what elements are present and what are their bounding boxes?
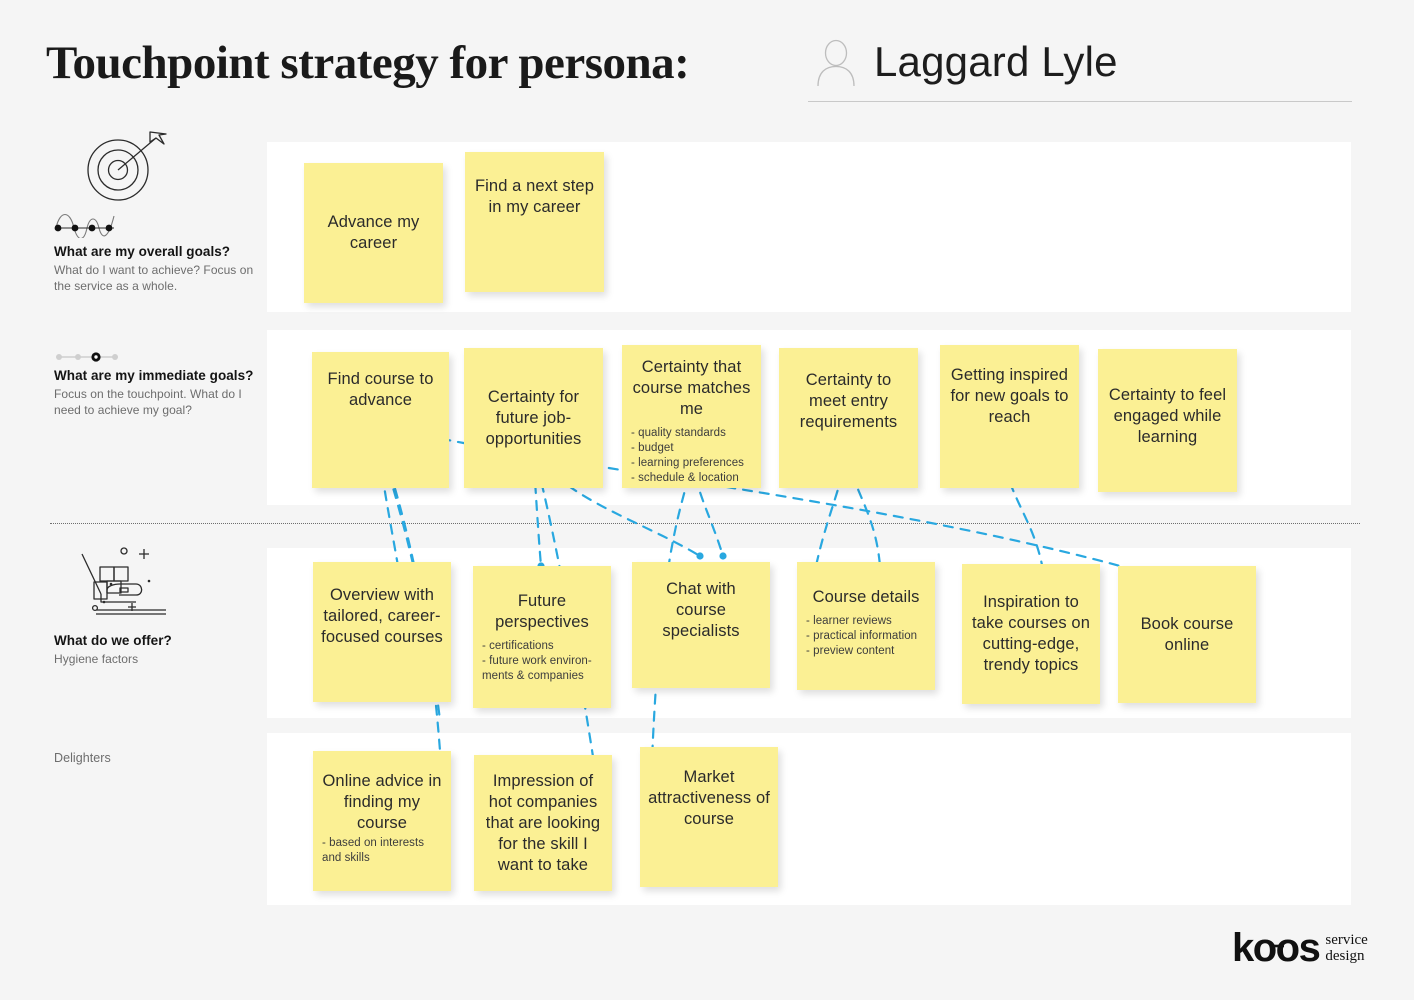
sticky-note[interactable]: Overview with tailored, career-focused c… [313,562,451,702]
page-header: Touchpoint strategy for persona: Laggard… [0,0,1414,120]
note-heading: Certainty to meet entry requirements [779,370,918,433]
sticky-note[interactable]: Certainty for future job-opportunities [464,348,603,488]
sidebar-title-overall-goals: What are my overall goals? [54,244,259,260]
note-heading: Future perspectives [473,591,611,633]
sticky-note[interactable]: Impression of hot companies that are loo… [474,755,612,891]
sticky-note[interactable]: Advance my career [304,163,443,303]
sticky-note[interactable]: Book course online [1118,566,1256,703]
note-heading: Certainty for future job-opportunities [464,387,603,450]
sidebar-subtitle-immediate-goals: Focus on the touchpoint. What do I need … [54,387,259,418]
note-heading: Getting inspired for new goals to reach [940,365,1079,428]
wave-dots-icon [54,212,122,238]
note-heading: Find a next step in my career [465,176,604,218]
sidebar-section-offer: What do we offer? Hygiene factors [54,633,259,668]
sticky-note[interactable]: Future perspectives - certifications - f… [473,566,611,708]
page-title: Touchpoint strategy for persona: [46,36,689,90]
note-heading: Inspiration to take courses on cutting-e… [962,592,1100,676]
sticky-note[interactable]: Inspiration to take courses on cutting-e… [962,564,1100,704]
target-dartboard-icon [80,126,174,208]
note-heading: Online advice in finding my course [313,771,451,834]
note-bullets: - based on interests and skills [313,836,451,866]
note-heading: Advance my career [304,212,443,254]
note-bullets: - certifications - future work environ- … [473,639,611,684]
hygiene-delighter-divider [50,523,1360,524]
note-heading: Find course to advance [312,369,449,411]
sidebar-section-overall-goals: What are my overall goals? What do I wan… [54,244,259,294]
note-heading: Certainty that course matches me [622,357,761,420]
sticky-note[interactable]: Getting inspired for new goals to reach [940,345,1079,488]
sticky-note[interactable]: Market attractiveness of course [640,747,778,887]
note-heading: Certainty to feel engaged while learning [1098,385,1237,448]
note-heading: Impression of hot companies that are loo… [474,771,612,876]
note-heading: Overview with tailored, career-focused c… [313,585,451,648]
persona-name: Laggard Lyle [874,38,1118,86]
note-bullets: - quality standards - budget - learning … [622,426,761,486]
sticky-note[interactable]: Certainty that course matches me - quali… [622,345,761,488]
note-heading: Market attractiveness of course [640,767,778,830]
sidebar-subtitle-offer: Hygiene factors [54,652,259,668]
koos-service-design-logo: koos service design [1232,928,1368,968]
sticky-note[interactable]: Course details - learner reviews - pract… [797,562,935,690]
note-heading: Course details [797,587,935,608]
header-divider-rule [808,101,1352,102]
sticky-note[interactable]: Chat with course specialists [632,562,770,688]
touchpoint-strategy-board: Touchpoint strategy for persona: Laggard… [0,0,1414,1000]
glasses-icon [1254,939,1304,959]
logo-tagline: service design [1325,928,1367,964]
sidebar-section-delighters: Delighters [54,751,259,765]
sidebar-subtitle-overall-goals: What do I want to achieve? Focus on the … [54,263,259,294]
hand-blocks-offer-icon [74,544,174,624]
sticky-note[interactable]: Online advice in finding my course - bas… [313,751,451,891]
progress-dots-icon [54,350,134,364]
note-heading: Book course online [1118,614,1256,656]
sticky-note[interactable]: Find course to advance [312,352,449,488]
sidebar-title-immediate-goals: What are my immediate goals? [54,368,259,384]
note-bullets: - learner reviews - practical informatio… [797,614,935,659]
sticky-note[interactable]: Certainty to feel engaged while learning [1098,349,1237,492]
sticky-note[interactable]: Certainty to meet entry requirements [779,348,918,488]
sidebar-section-immediate-goals: What are my immediate goals? Focus on th… [54,368,259,418]
sidebar-title-offer: What do we offer? [54,633,259,649]
note-heading: Chat with course specialists [632,579,770,642]
sidebar-title-delighters: Delighters [54,751,259,765]
sticky-note[interactable]: Find a next step in my career [465,152,604,292]
person-avatar-icon [815,38,857,86]
